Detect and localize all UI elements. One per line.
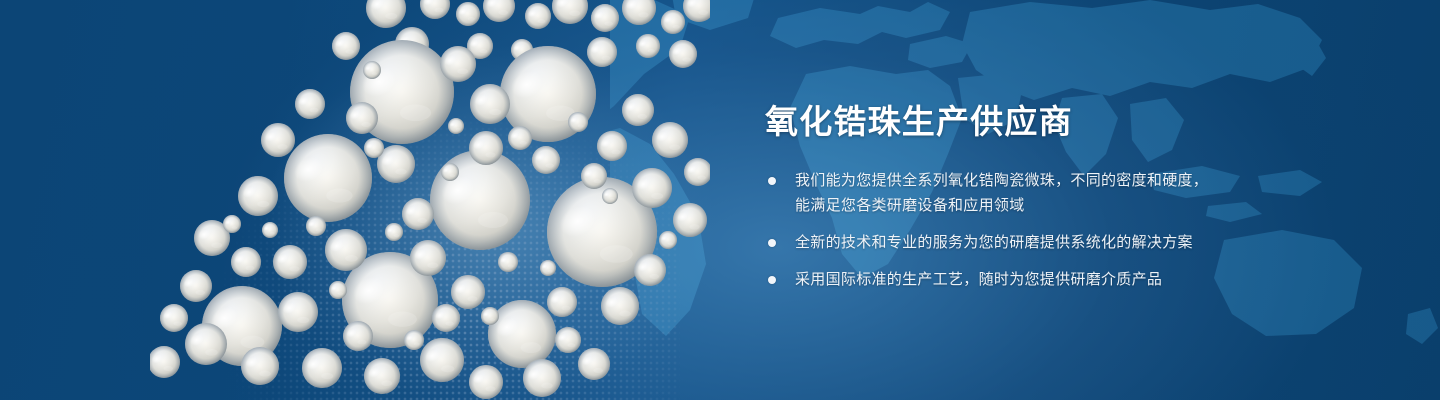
list-item-line: 能满足您各类研磨设备和应用领域 <box>795 193 1235 218</box>
banner-copy: 氧化锆珠生产供应商 我们能为您提供全系列氧化锆陶瓷微珠，不同的密度和硬度， 能满… <box>765 104 1235 292</box>
bullet-dot-icon <box>768 276 776 284</box>
zirconia-beads-photo <box>150 0 710 400</box>
list-item-line: 采用国际标准的生产工艺，随时为您提供研磨介质产品 <box>795 267 1235 292</box>
hero-banner: 氧化锆珠生产供应商 我们能为您提供全系列氧化锆陶瓷微珠，不同的密度和硬度， 能满… <box>0 0 1440 400</box>
bullet-dot-icon <box>768 177 776 185</box>
list-item-line: 全新的技术和专业的服务为您的研磨提供系统化的解决方案 <box>795 230 1235 255</box>
list-item: 我们能为您提供全系列氧化锆陶瓷微珠，不同的密度和硬度， 能满足您各类研磨设备和应… <box>765 168 1235 218</box>
list-item-line: 我们能为您提供全系列氧化锆陶瓷微珠，不同的密度和硬度， <box>795 168 1235 193</box>
feature-list: 我们能为您提供全系列氧化锆陶瓷微珠，不同的密度和硬度， 能满足您各类研磨设备和应… <box>765 168 1235 292</box>
bullet-dot-icon <box>768 239 776 247</box>
list-item: 采用国际标准的生产工艺，随时为您提供研磨介质产品 <box>765 267 1235 292</box>
list-item: 全新的技术和专业的服务为您的研磨提供系统化的解决方案 <box>765 230 1235 255</box>
page-title: 氧化锆珠生产供应商 <box>765 104 1235 140</box>
